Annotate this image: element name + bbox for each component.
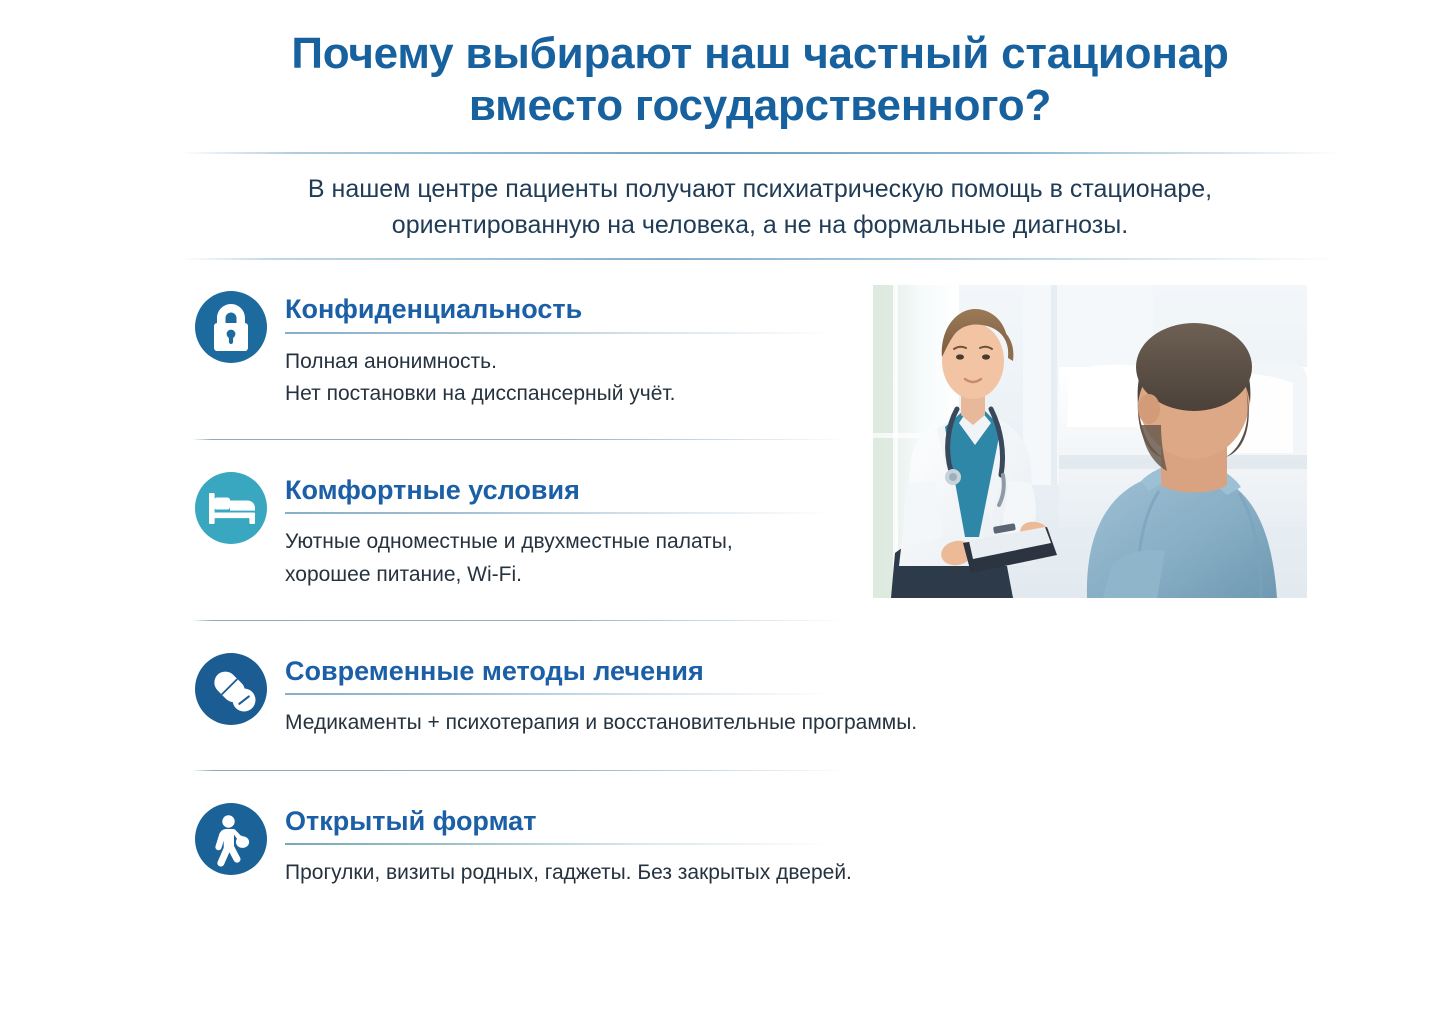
feature-body: Современные методы лечения Медикаменты +… — [285, 650, 852, 740]
feature-heading: Конфиденциальность — [285, 295, 852, 325]
feature-body: Комфортные условия Уютные одноместные и … — [285, 469, 852, 592]
feature-body: Открытый формат Прогулки, визиты родных,… — [285, 800, 852, 890]
heading-underline — [285, 512, 833, 514]
title-divider — [180, 152, 1342, 154]
feature-item-confidentiality: Конфиденциальность Полная анонимность. Н… — [192, 288, 852, 439]
consultation-photo — [873, 285, 1307, 598]
feature-body: Конфиденциальность Полная анонимность. Н… — [285, 288, 852, 411]
page-title-line-2: вместо государственного? — [180, 80, 1340, 132]
feature-text-line: хорошее питание, Wi-Fi. — [285, 559, 852, 592]
feature-list: Конфиденциальность Полная анонимность. Н… — [192, 288, 852, 902]
bed-icon — [192, 469, 270, 547]
feature-heading: Комфортные условия — [285, 476, 852, 506]
feature-text-line: Уютные одноместные и двухместные палаты, — [285, 526, 852, 559]
feature-item-open-format: Открытый формат Прогулки, визиты родных,… — [192, 770, 852, 902]
page-title-line-1: Почему выбирают наш частный стационар — [180, 28, 1340, 80]
feature-heading: Открытый формат — [285, 807, 852, 837]
heading-underline — [285, 843, 833, 845]
feature-heading: Современные методы лечения — [285, 657, 852, 687]
heading-underline — [285, 693, 833, 695]
slide-root: Почему выбирают наш частный стационар вм… — [0, 0, 1456, 1024]
feature-text-line: Полная анонимность. — [285, 346, 852, 379]
feature-text: Уютные одноместные и двухместные палаты,… — [285, 526, 852, 591]
feature-item-comfort: Комфортные условия Уютные одноместные и … — [192, 439, 852, 620]
feature-separator — [192, 439, 848, 440]
feature-text: Прогулки, визиты родных, гаджеты. Без за… — [285, 857, 852, 890]
feature-item-treatment: Современные методы лечения Медикаменты +… — [192, 620, 852, 770]
page-subtitle-line-1: В нашем центре пациенты получают психиат… — [180, 172, 1340, 208]
pills-icon — [192, 650, 270, 728]
feature-text-line: Медикаменты + психотерапия и восстановит… — [285, 707, 852, 740]
page-subtitle: В нашем центре пациенты получают психиат… — [180, 172, 1340, 243]
heading-underline — [285, 332, 833, 334]
feature-text-line: Нет постановки на дисспансерный учёт. — [285, 378, 852, 411]
lock-icon — [192, 288, 270, 366]
feature-text-line: Прогулки, визиты родных, гаджеты. Без за… — [285, 857, 852, 890]
subtitle-divider — [180, 258, 1342, 260]
feature-separator — [192, 770, 848, 771]
feature-separator — [192, 620, 848, 621]
feature-text: Полная анонимность. Нет постановки на ди… — [285, 346, 852, 411]
feature-text: Медикаменты + психотерапия и восстановит… — [285, 707, 852, 740]
walking-person-icon — [192, 800, 270, 878]
page-subtitle-line-2: ориентированную на человека, а не на фор… — [180, 208, 1340, 244]
page-title: Почему выбирают наш частный стационар вм… — [180, 28, 1340, 132]
